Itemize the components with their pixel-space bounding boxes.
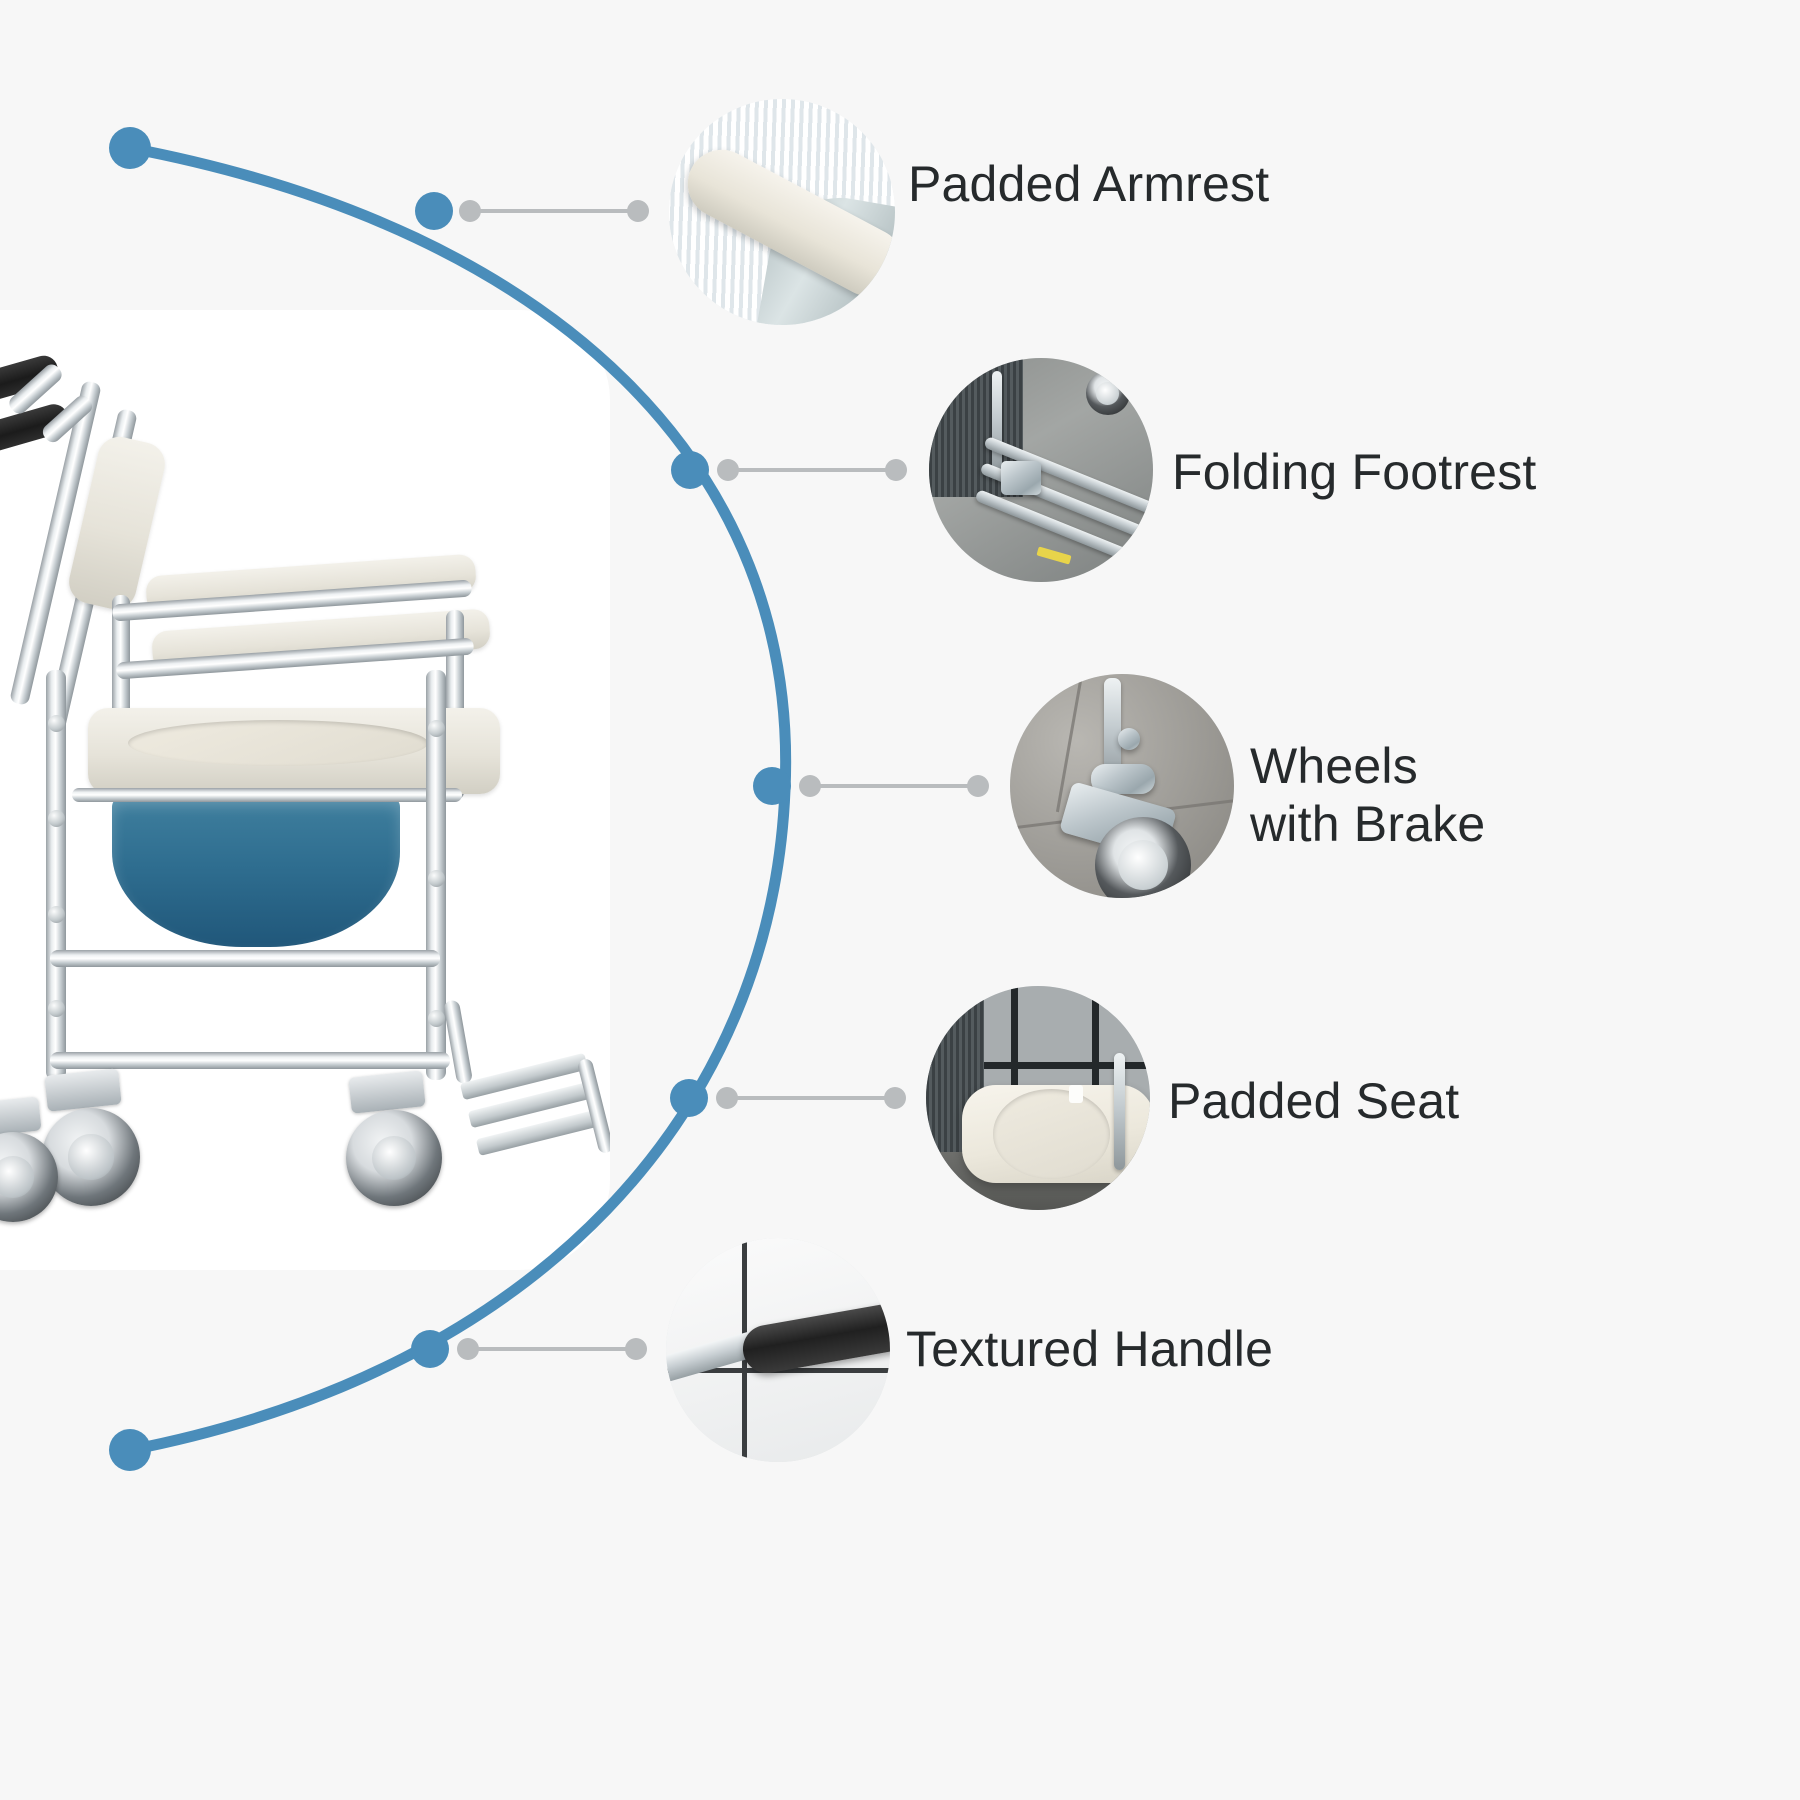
connector-dot-4a	[716, 1087, 738, 1109]
arc-endpoint-bottom	[109, 1429, 151, 1471]
connector-dot-1a	[459, 200, 481, 222]
frame-bolt-5	[428, 720, 445, 737]
callout-label-wheels-with-brake: Wheels with Brake	[1250, 737, 1485, 853]
product-image-panel	[0, 310, 610, 1270]
frame-bolt-7	[428, 1010, 445, 1027]
arc-node-1	[415, 192, 453, 230]
caster-screw	[1118, 728, 1140, 750]
arc-node-2	[671, 451, 709, 489]
connector-dot-3b	[967, 775, 989, 797]
arc-node-5	[411, 1330, 449, 1368]
arc-node-3	[753, 767, 791, 805]
callout-image-wheels-with-brake	[1010, 674, 1234, 898]
frame-bolt-2	[48, 810, 65, 827]
connector-dot-3a	[799, 775, 821, 797]
footrest-bracket	[1001, 461, 1041, 495]
callout-image-textured-handle	[666, 1238, 890, 1462]
commode-chair-photo	[0, 310, 610, 1270]
callout-label-textured-handle: Textured Handle	[906, 1320, 1273, 1378]
callout-label-padded-seat: Padded Seat	[1168, 1072, 1459, 1130]
frame-crossbar-mid	[50, 950, 440, 967]
connector-dot-2b	[885, 459, 907, 481]
footrest-edge	[577, 1058, 610, 1155]
caster-wheel-front	[346, 1110, 442, 1206]
bucket-support-rail	[72, 788, 462, 802]
callout-label-padded-armrest: Padded Armrest	[908, 155, 1269, 213]
seat-photo-frame-tube	[1114, 1053, 1125, 1169]
connector-dot-1b	[627, 200, 649, 222]
seat-hole-closeup	[993, 1089, 1109, 1179]
callout-image-folding-footrest	[929, 358, 1153, 582]
caster-fork-rear	[44, 1068, 121, 1112]
connector-dot-2a	[717, 459, 739, 481]
callout-image-padded-armrest	[669, 99, 895, 325]
callout-label-folding-footrest: Folding Footrest	[1172, 443, 1536, 501]
caster-fork-front	[348, 1070, 425, 1114]
frame-bolt-3	[48, 906, 65, 923]
frame-bolt-4	[48, 1000, 65, 1017]
footrest-arm	[443, 999, 473, 1085]
callout-image-padded-seat	[926, 986, 1150, 1210]
connector-dot-5a	[457, 1338, 479, 1360]
seat-tab	[1069, 1085, 1083, 1103]
connector-dot-5b	[625, 1338, 647, 1360]
connector-dot-4b	[884, 1087, 906, 1109]
frame-bolt-6	[428, 870, 445, 887]
commode-bucket	[112, 797, 400, 947]
footrest-photo-caster	[1086, 371, 1130, 415]
frame-crossbar-low	[50, 1052, 450, 1069]
arc-endpoint-top	[109, 127, 151, 169]
footrest-vertical-tube	[992, 371, 1002, 474]
frame-bolt-1	[48, 715, 65, 732]
seat-opening	[128, 720, 428, 766]
arc-node-4	[670, 1079, 708, 1117]
caster-wheel-rear	[42, 1108, 140, 1206]
infographic-canvas: Padded Armrest Folding Footrest Wheels w…	[0, 0, 1800, 1800]
